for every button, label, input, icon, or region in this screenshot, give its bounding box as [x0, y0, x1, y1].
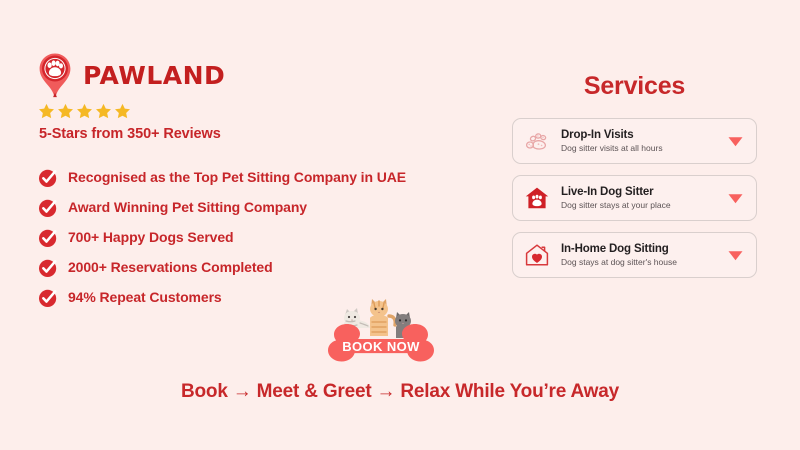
services-title: Services — [512, 72, 757, 101]
list-item: 2000+ Reservations Completed — [38, 258, 466, 278]
brand-name: PAWLAND — [83, 63, 225, 88]
star-icon — [114, 103, 131, 120]
star-icon — [76, 103, 93, 120]
service-title: In-Home Dog Sitting — [561, 243, 717, 256]
check-circle-icon — [38, 228, 58, 248]
list-item-label: Recognised as the Top Pet Sitting Compan… — [68, 170, 406, 185]
reviews-text: 5-Stars from 350+ Reviews — [39, 126, 466, 142]
check-circle-icon — [38, 288, 58, 308]
service-card-text: Drop-In Visits Dog sitter visits at all … — [561, 129, 717, 154]
house-paw-icon — [524, 185, 550, 211]
service-card-drop-in-visits[interactable]: Drop-In Visits Dog sitter visits at all … — [512, 118, 757, 164]
list-item-label: Award Winning Pet Sitting Company — [68, 200, 307, 215]
service-subtitle: Dog stays at dog sitter's house — [561, 258, 717, 268]
service-subtitle: Dog sitter stays at your place — [561, 201, 717, 211]
list-item-label: 2000+ Reservations Completed — [68, 260, 273, 275]
highlights-list: Recognised as the Top Pet Sitting Compan… — [38, 168, 466, 308]
paw-print-icon — [524, 128, 550, 154]
map-pin-paw-icon — [36, 52, 74, 98]
check-circle-icon — [38, 258, 58, 278]
star-icon — [57, 103, 74, 120]
list-item-label: 94% Repeat Customers — [68, 290, 222, 305]
star-icon — [95, 103, 112, 120]
star-icon — [38, 103, 55, 120]
chevron-down-icon[interactable] — [728, 193, 745, 204]
check-circle-icon — [38, 168, 58, 188]
services-panel: Services Drop-In Visits Dog sit — [512, 72, 757, 289]
service-card-in-home-dog-sitting[interactable]: In-Home Dog Sitting Dog stays at dog sit… — [512, 232, 757, 278]
service-title: Live-In Dog Sitter — [561, 186, 717, 199]
house-heart-icon — [524, 242, 550, 268]
service-card-text: Live-In Dog Sitter Dog sitter stays at y… — [561, 186, 717, 211]
brand-lockup: PAWLAND — [36, 52, 466, 98]
chevron-down-icon[interactable] — [728, 250, 745, 261]
service-subtitle: Dog sitter visits at all hours — [561, 144, 717, 154]
chevron-down-icon[interactable] — [728, 136, 745, 147]
service-card-text: In-Home Dog Sitting Dog stays at dog sit… — [561, 243, 717, 268]
star-rating — [38, 103, 466, 120]
list-item-label: 700+ Happy Dogs Served — [68, 230, 234, 245]
book-now-cta[interactable]: BOOK NOW — [318, 296, 444, 372]
brand-highlights-panel: PAWLAND 5-Stars from 350+ Reviews Recogn… — [36, 52, 466, 308]
tagline: Book → Meet & Greet → Relax While You’re… — [0, 381, 800, 403]
service-title: Drop-In Visits — [561, 129, 717, 142]
check-circle-icon — [38, 198, 58, 218]
list-item: 700+ Happy Dogs Served — [38, 228, 466, 248]
service-card-live-in-dog-sitter[interactable]: Live-In Dog Sitter Dog sitter stays at y… — [512, 175, 757, 221]
list-item: Recognised as the Top Pet Sitting Compan… — [38, 168, 466, 188]
list-item: Award Winning Pet Sitting Company — [38, 198, 466, 218]
